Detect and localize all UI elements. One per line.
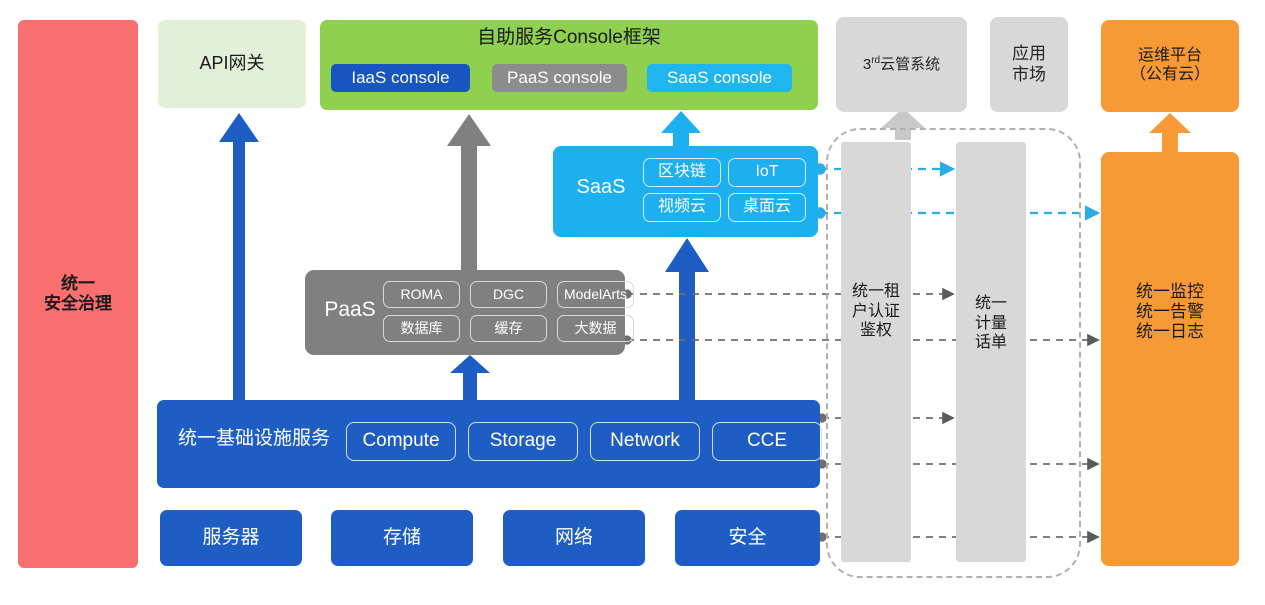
api-gateway-label: API网关: [199, 53, 264, 74]
self-service-console-frame: 自助服务Console框架 IaaS console PaaS console …: [320, 20, 818, 110]
pillar-1-line2: 户认证: [852, 303, 900, 320]
ops-platform-line1: 运维平台: [1138, 47, 1202, 64]
paas-chip-modelarts[interactable]: ModelArts: [557, 281, 634, 308]
paas-chip-database[interactable]: 数据库: [383, 315, 460, 342]
architecture-diagram-canvas: 统一租 户认证 鉴权 统一 计量 话单 统一 安全治理 API网关 自助服务Co…: [0, 0, 1265, 605]
unified-infrastructure-block: 统一基础设施服务 Compute Storage Network CCE: [157, 400, 820, 488]
pillar-unified-tenant-auth: 统一租 户认证 鉴权: [841, 142, 911, 562]
infra-chip-compute[interactable]: Compute: [346, 422, 456, 461]
blue-up-arrow-to-api-gateway: [219, 113, 259, 402]
ops-column-line3: 统一日志: [1136, 322, 1204, 341]
blue-up-arrow-infra-to-paas: [450, 355, 490, 402]
saas-layer-label: SaaS: [565, 176, 637, 200]
third-party-cloud-mgmt-box[interactable]: 3rd云管系统: [836, 17, 967, 112]
app-market-box[interactable]: 应用 市场: [990, 17, 1068, 112]
ops-column-line1: 统一监控: [1136, 282, 1204, 301]
resource-box-server[interactable]: 服务器: [160, 510, 302, 566]
api-gateway-box[interactable]: API网关: [158, 20, 306, 108]
saas-console-pill[interactable]: SaaS console: [647, 64, 792, 92]
pillar-1-line3: 鉴权: [860, 322, 892, 339]
gray-up-arrow-to-console: [447, 114, 491, 272]
saas-chip-desktop-cloud[interactable]: 桌面云: [728, 193, 806, 222]
paas-chip-dgc[interactable]: DGC: [470, 281, 547, 308]
blue-up-arrow-infra-to-saas: [665, 238, 709, 402]
app-market-line2: 市场: [1012, 65, 1046, 84]
paas-layer-label: PaaS: [315, 298, 385, 323]
pillar-1-line1: 统一租: [852, 283, 900, 300]
ops-column-line2: 统一告警: [1136, 302, 1204, 321]
third-party-superscript: rd: [871, 55, 880, 66]
security-label-line2: 安全治理: [44, 294, 112, 313]
pillar-2-line3: 话单: [975, 334, 1007, 351]
pillar-2-line1: 统一: [975, 295, 1007, 312]
infra-chip-network[interactable]: Network: [590, 422, 700, 461]
third-party-prefix: 3: [863, 56, 871, 73]
saas-chip-video-cloud[interactable]: 视频云: [643, 193, 721, 222]
iaas-console-pill[interactable]: IaaS console: [331, 64, 470, 92]
unified-infrastructure-label: 统一基础设施服务: [169, 428, 339, 450]
paas-chip-cache[interactable]: 缓存: [470, 315, 547, 342]
saas-layer-block: SaaS 区块链 IoT 视频云 桌面云: [553, 146, 818, 237]
infra-chip-cce[interactable]: CCE: [712, 422, 822, 461]
ops-monitoring-column: 统一监控 统一告警 统一日志: [1101, 152, 1239, 566]
third-party-rest: 云管系统: [880, 56, 940, 73]
resource-box-storage[interactable]: 存储: [331, 510, 473, 566]
ops-platform-line2: （公有云）: [1130, 66, 1210, 83]
saas-chip-iot[interactable]: IoT: [728, 158, 806, 187]
unified-security-governance-column: 统一 安全治理: [18, 20, 138, 568]
saas-chip-blockchain[interactable]: 区块链: [643, 158, 721, 187]
paas-chip-bigdata[interactable]: 大数据: [557, 315, 634, 342]
resource-box-network[interactable]: 网络: [503, 510, 645, 566]
orange-up-arrow-to-ops-platform: [1149, 113, 1191, 152]
resource-box-security[interactable]: 安全: [675, 510, 820, 566]
infra-chip-storage[interactable]: Storage: [468, 422, 578, 461]
ops-platform-box[interactable]: 运维平台 （公有云）: [1101, 20, 1239, 112]
paas-chip-roma[interactable]: ROMA: [383, 281, 460, 308]
app-market-line1: 应用: [1012, 44, 1046, 63]
pillar-unified-metering: 统一 计量 话单: [956, 142, 1026, 562]
paas-console-pill[interactable]: PaaS console: [492, 64, 627, 92]
pillar-2-line2: 计量: [975, 315, 1007, 332]
cyan-up-arrow-saas-to-console: [661, 111, 701, 150]
console-frame-title: 自助服务Console框架: [320, 27, 818, 49]
paas-layer-block: PaaS ROMA DGC ModelArts 数据库 缓存 大数据: [305, 270, 625, 355]
security-label-line1: 统一: [61, 274, 95, 293]
